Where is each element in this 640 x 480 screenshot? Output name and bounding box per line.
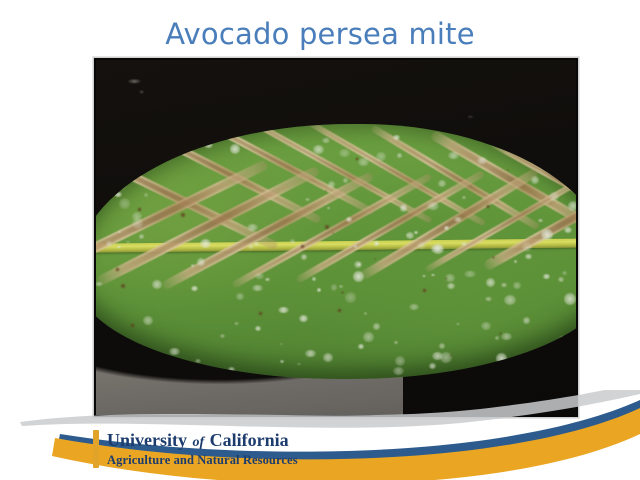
mite-stipple-spot — [535, 154, 540, 157]
mite-stipple-spot — [373, 323, 380, 329]
mite-stipple-spot — [501, 283, 507, 287]
mite-stipple-spot — [409, 304, 419, 310]
mite-stipple-spot — [481, 322, 491, 330]
slide-canvas: Avocado persea mite University of Califo… — [0, 0, 640, 480]
mite-stipple-spot — [197, 258, 205, 265]
mite-stipple-spot — [543, 274, 550, 278]
mite-stipple-spot — [447, 283, 455, 289]
necrotic-fleck — [563, 343, 567, 347]
mite-stipple-spot — [568, 201, 576, 211]
mite-stipple-spot — [317, 288, 321, 291]
necrotic-fleck — [374, 258, 376, 260]
mite-stipple-spot — [525, 254, 532, 259]
necrotic-fleck — [492, 256, 495, 259]
mite-stipple-spot — [230, 144, 241, 154]
mite-stipple-spot — [353, 271, 364, 282]
mite-stipple-spot — [358, 344, 363, 349]
mite-stipple-spot — [236, 293, 244, 300]
necrotic-fleck — [258, 311, 263, 316]
mite-stipple-spot — [191, 286, 199, 292]
mite-stipple-spot — [327, 207, 331, 209]
mite-stipple-spot — [150, 147, 154, 150]
mite-stipple-spot — [299, 315, 308, 322]
photo-image-area — [96, 60, 576, 415]
mite-stipple-spot — [414, 231, 418, 234]
mite-stipple-spot — [431, 274, 435, 277]
mite-stipple-spot — [504, 295, 516, 305]
mite-stipple-spot — [422, 275, 426, 278]
uc-anr-logo-bar — [93, 430, 99, 468]
uc-anr-university-word: University — [107, 430, 187, 450]
mite-stipple-spot — [513, 282, 522, 290]
mite-stipple-spot — [192, 144, 196, 147]
mite-stipple-spot — [343, 178, 348, 183]
mite-stipple-spot — [255, 273, 265, 279]
necrotic-fleck — [450, 354, 452, 356]
mite-stipple-spot — [363, 332, 373, 343]
page-title: Avocado persea mite — [0, 17, 640, 51]
mite-stipple-spot — [538, 219, 543, 222]
necrotic-fleck — [337, 308, 342, 313]
mite-stipple-spot — [247, 224, 258, 231]
avocado-leaf — [96, 124, 576, 380]
mite-stipple-spot — [432, 352, 443, 360]
mite-stipple-spot — [358, 158, 369, 167]
mite-stipple-spot — [305, 350, 316, 356]
mite-stipple-spot — [280, 360, 284, 363]
necrotic-fleck — [137, 207, 142, 212]
mite-stipple-spot — [305, 198, 310, 201]
mite-stipple-spot — [346, 217, 352, 222]
mite-stipple-spot — [331, 284, 338, 291]
uc-anr-logo-line2: Agriculture and Natural Resources — [107, 453, 298, 468]
mite-stipple-spot — [393, 367, 404, 375]
uc-anr-logo-text: University of California Agriculture and… — [107, 430, 298, 468]
mite-stipple-spot — [519, 143, 525, 148]
mite-stipple-spot — [220, 334, 226, 338]
mite-stipple-spot — [152, 280, 162, 289]
necrotic-fleck — [507, 169, 509, 171]
mite-stipple-spot — [204, 142, 213, 148]
mite-stipple-spot — [138, 139, 150, 151]
mite-stipple-spot — [143, 316, 153, 326]
uc-anr-logo[interactable]: University of California Agriculture and… — [93, 430, 298, 468]
mite-stipple-spot — [397, 153, 402, 158]
mite-stipple-spot — [278, 307, 289, 313]
mite-stipple-spot — [523, 148, 530, 153]
mite-stipple-spot — [125, 163, 130, 166]
mite-stipple-spot — [297, 363, 300, 365]
mite-stipple-spot — [496, 353, 507, 364]
mite-stipple-spot — [195, 359, 201, 363]
mite-stipple-spot — [339, 285, 343, 287]
mite-stipple-spot — [114, 192, 122, 197]
mite-stipple-spot — [523, 317, 529, 324]
mite-stipple-spot — [429, 363, 436, 369]
mite-stipple-spot — [323, 353, 333, 362]
necrotic-fleck — [96, 334, 100, 339]
mite-stipple-spot — [139, 234, 145, 238]
mite-stipple-spot — [322, 138, 330, 143]
mite-stipple-spot — [531, 176, 540, 183]
uc-anr-california-word: California — [210, 430, 289, 450]
mite-stipple-spot — [522, 242, 532, 252]
mite-stipple-spot — [280, 343, 283, 345]
mite-stipple-spot — [563, 363, 569, 368]
necrotic-fleck — [341, 291, 344, 294]
mite-stipple-spot — [448, 152, 459, 160]
mite-stipple-spot — [464, 271, 476, 278]
necrotic-fleck — [542, 145, 545, 148]
mite-stipple-spot — [345, 292, 357, 303]
mite-stipple-spot — [462, 196, 467, 200]
uc-anr-of-word: of — [192, 435, 206, 450]
mite-stipple-spot — [144, 193, 147, 196]
mite-stipple-spot — [339, 149, 350, 157]
mite-stipple-spot — [106, 241, 111, 246]
mite-stipple-spot — [395, 356, 405, 367]
mite-stipple-spot — [559, 336, 567, 342]
mite-stipple-spot — [116, 179, 127, 190]
mite-stipple-spot — [439, 343, 445, 349]
mite-stipple-spot — [432, 244, 444, 253]
mite-stipple-spot — [234, 322, 239, 325]
mite-stipple-spot — [376, 152, 385, 161]
mite-stipple-spot — [564, 293, 576, 305]
mite-stipple-spot — [438, 180, 446, 187]
necrotic-fleck — [120, 283, 126, 289]
mite-stipple-spot — [394, 341, 398, 344]
mite-stipple-spot — [265, 278, 270, 281]
mite-stipple-spot — [252, 285, 263, 291]
mite-stipple-spot — [558, 277, 564, 282]
necrotic-fleck — [567, 164, 572, 169]
mite-stipple-spot — [364, 312, 367, 315]
mite-stipple-spot — [495, 336, 499, 340]
avocado-leaf-persea-mite-damage-photo[interactable] — [93, 57, 579, 418]
mite-stipple-spot — [393, 135, 400, 140]
mite-stipple-spot — [290, 239, 295, 244]
necrotic-fleck — [180, 212, 186, 218]
damaged-vein — [96, 159, 269, 276]
mite-stipple-spot — [427, 202, 438, 210]
mite-stipple-spot — [514, 260, 518, 263]
mite-stipple-spot — [313, 145, 324, 154]
necrotic-fleck — [324, 224, 330, 230]
mite-stipple-spot — [255, 326, 261, 331]
mite-stipple-spot — [96, 182, 99, 191]
mite-stipple-spot — [562, 271, 567, 275]
necrotic-fleck — [486, 204, 491, 209]
mite-stipple-spot — [556, 162, 566, 170]
mite-stipple-spot — [485, 297, 492, 301]
uc-anr-logo-line1: University of California — [107, 430, 298, 453]
mite-stipple-spot — [354, 261, 362, 268]
mite-stipple-spot — [200, 239, 211, 248]
mite-stipple-spot — [301, 254, 307, 260]
mite-stipple-spot — [169, 348, 180, 355]
mite-stipple-spot — [328, 181, 335, 187]
mite-stipple-spot — [456, 323, 459, 326]
mite-stipple-spot — [312, 277, 316, 281]
mite-stipple-spot — [566, 156, 570, 159]
mite-stipple-spot — [374, 241, 379, 245]
mite-stipple-spot — [486, 278, 495, 287]
mite-stipple-spot — [119, 198, 131, 209]
mite-stipple-spot — [564, 227, 572, 233]
necrotic-fleck — [332, 232, 334, 234]
mite-stipple-spot — [96, 282, 103, 287]
mite-stipple-spot — [406, 232, 414, 239]
mite-stipple-spot — [155, 149, 164, 156]
necrotic-fleck — [130, 323, 135, 328]
necrotic-fleck — [422, 288, 427, 293]
mite-stipple-spot — [501, 333, 512, 340]
